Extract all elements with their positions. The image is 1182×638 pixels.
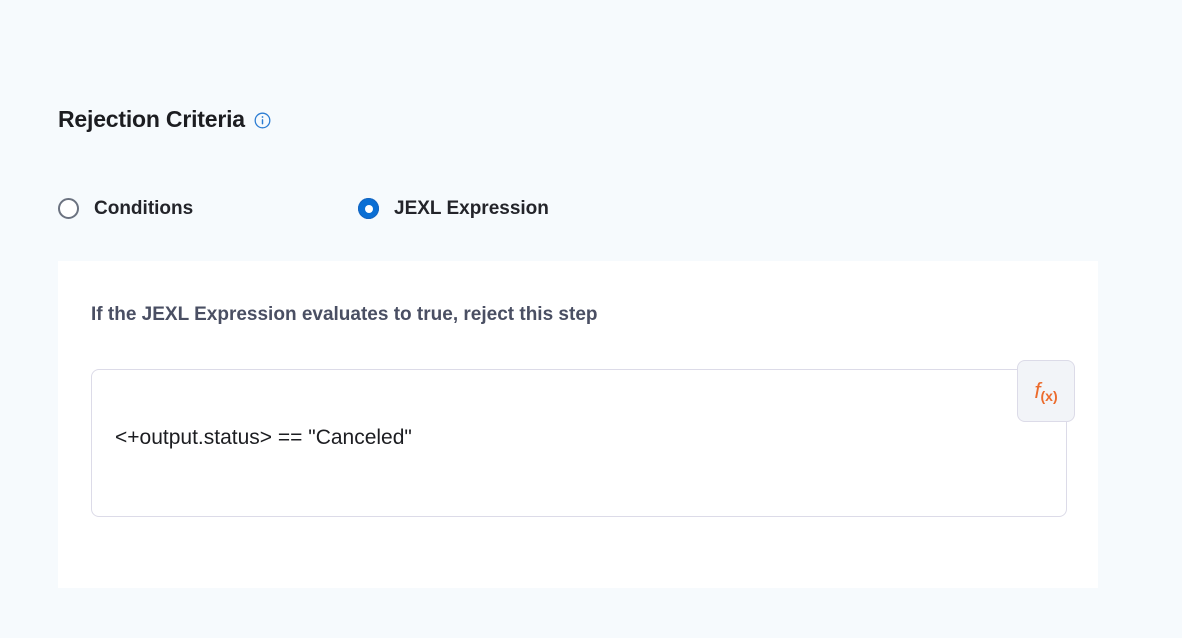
radio-label-conditions: Conditions — [94, 199, 193, 218]
radio-mark-jexl-expression[interactable] — [358, 198, 379, 219]
section-header: Rejection Criteria — [58, 108, 271, 131]
radio-option-conditions[interactable]: Conditions — [58, 198, 358, 219]
radio-option-jexl-expression[interactable]: JEXL Expression — [358, 198, 549, 219]
radio-label-jexl-expression: JEXL Expression — [394, 199, 549, 218]
fx-glyph: f(x) — [1034, 380, 1057, 403]
criteria-mode-radio-group: Conditions JEXL Expression — [58, 198, 549, 219]
radio-mark-conditions[interactable] — [58, 198, 79, 219]
fx-icon[interactable]: f(x) — [1017, 360, 1075, 422]
jexl-expression-panel: If the JEXL Expression evaluates to true… — [58, 261, 1098, 588]
jexl-expression-input[interactable]: <+output.status> == "Canceled" — [91, 369, 1067, 517]
page-title: Rejection Criteria — [58, 108, 245, 131]
info-circle-icon[interactable] — [254, 112, 271, 129]
fx-subscript: (x) — [1041, 388, 1058, 404]
panel-description: If the JEXL Expression evaluates to true… — [91, 305, 598, 324]
expression-field-wrapper: <+output.status> == "Canceled" f(x) — [91, 369, 1067, 517]
jexl-expression-value: <+output.status> == "Canceled" — [115, 427, 412, 448]
